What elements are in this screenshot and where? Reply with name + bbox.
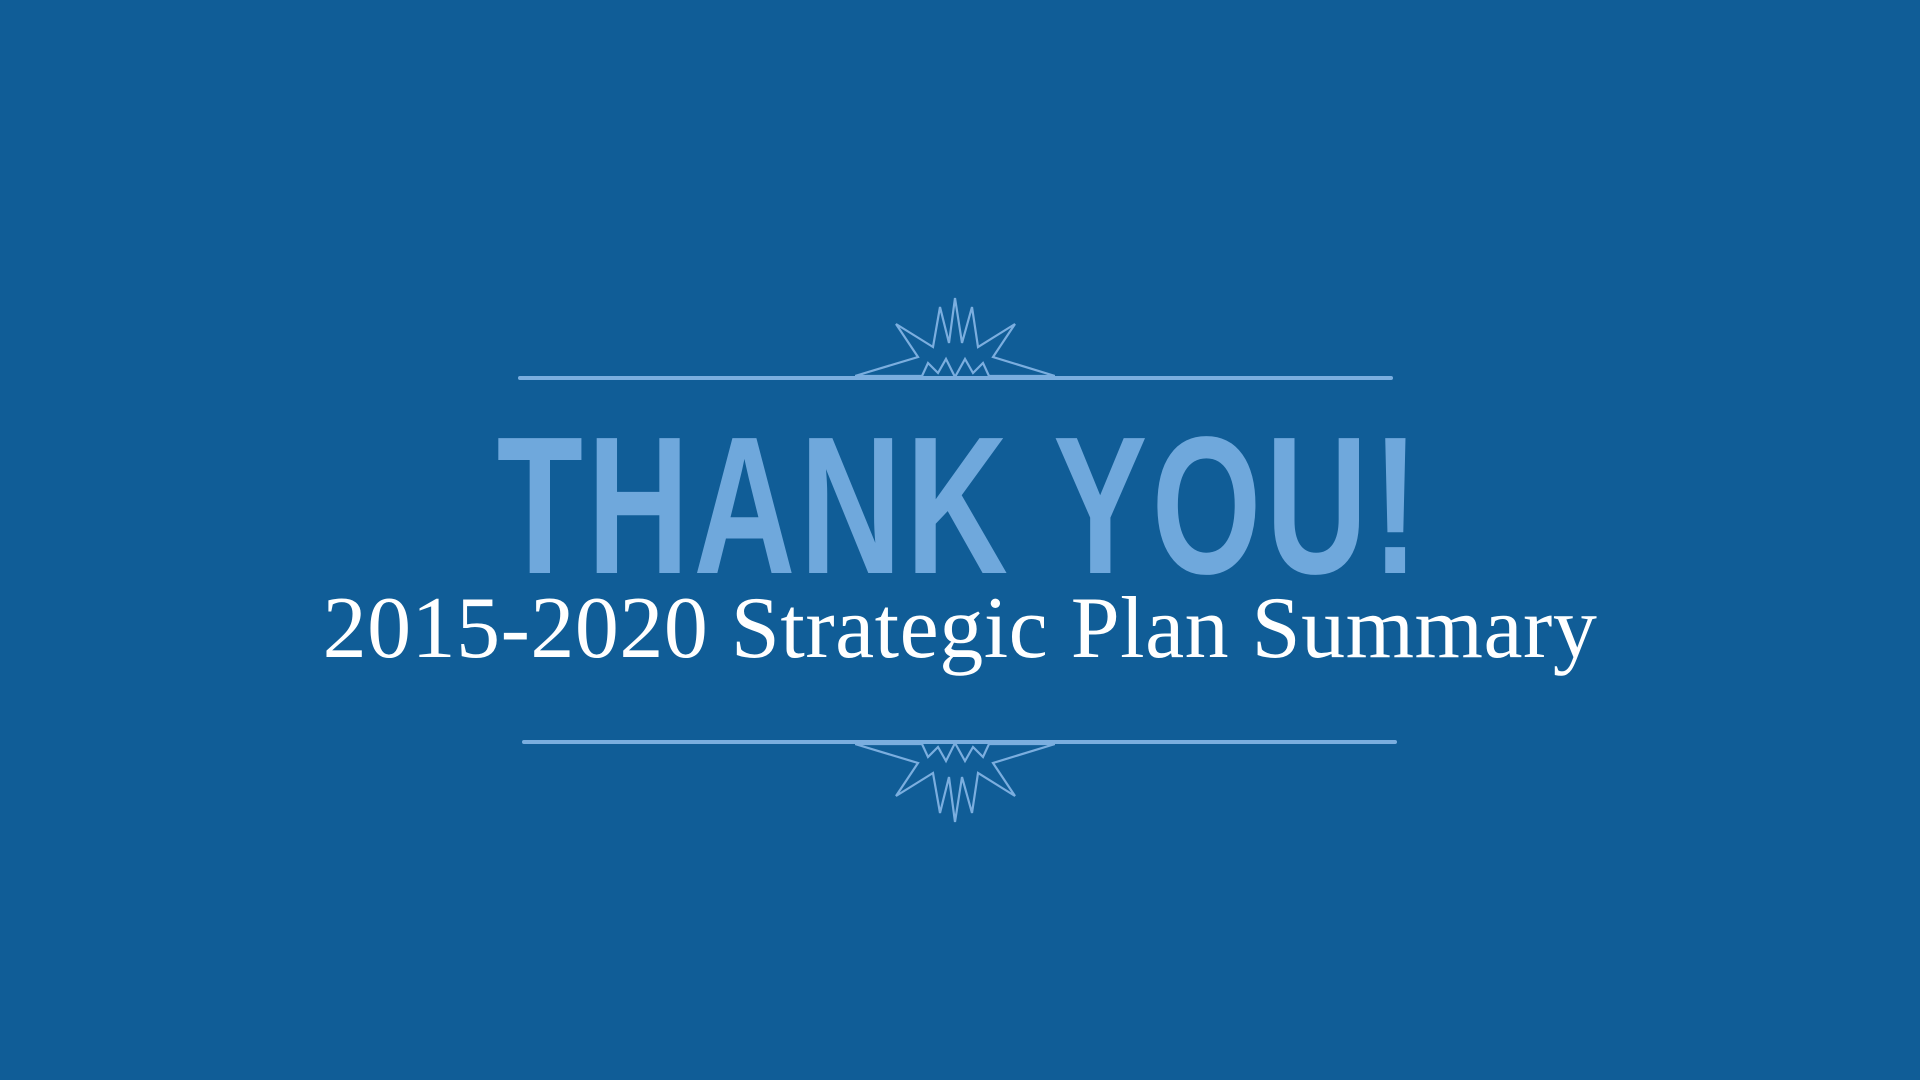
slide-canvas: THANK YOU! 2015-2020 Strategic Plan Summ… xyxy=(0,0,1920,1080)
title-composition: THANK YOU! 2015-2020 Strategic Plan Summ… xyxy=(0,0,1920,1080)
page-title: THANK YOU! xyxy=(269,408,1651,604)
page-subtitle: 2015-2020 Strategic Plan Summary xyxy=(0,585,1920,673)
starburst-icon-top xyxy=(855,285,1055,385)
starburst-icon-bottom xyxy=(855,735,1055,835)
